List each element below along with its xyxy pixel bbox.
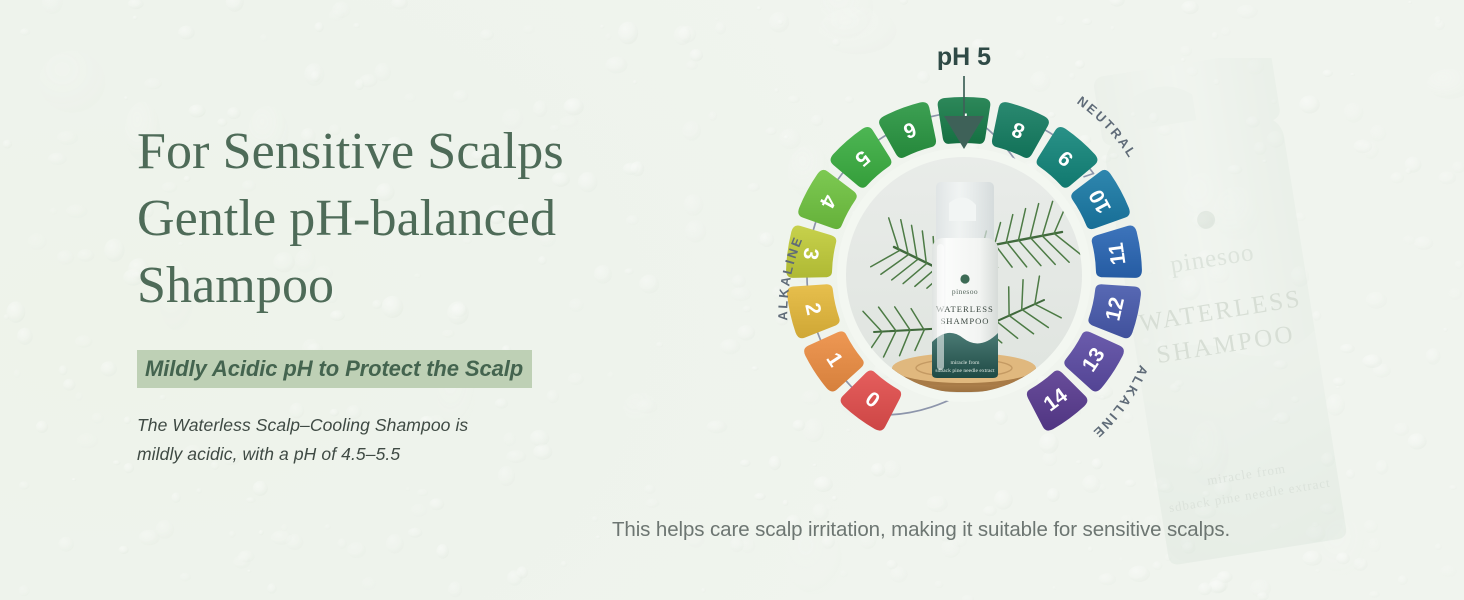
svg-text:WATERLESS: WATERLESS — [936, 304, 994, 314]
left-copy-block: For Sensitive Scalps Gentle pH-balanced … — [137, 118, 697, 468]
subtitle-wrapper: Mildly Acidic pH to Protect the Scalp — [137, 350, 697, 388]
body-copy: The Waterless Scalp–Cooling Shampoo is m… — [137, 411, 697, 468]
page-title: For Sensitive Scalps Gentle pH-balanced … — [137, 118, 697, 319]
ph-segment-label-11: 11 — [1105, 241, 1131, 266]
svg-text:pinesoo: pinesoo — [952, 287, 978, 296]
svg-text:SHAMPOO: SHAMPOO — [940, 316, 989, 326]
svg-text:sdback pine needle extract: sdback pine needle extract — [935, 368, 995, 374]
svg-text:miracle from: miracle from — [950, 359, 980, 366]
ph-wheel: 01234567891011121314 — [744, 32, 1184, 502]
banner-root: pinesoo WATERLESS SHAMPOO miracle from s… — [0, 0, 1464, 600]
headline-line-2: Gentle pH-balanced — [137, 185, 697, 252]
body-copy-line-2: mildly acidic, with a pH of 4.5–5.5 — [137, 440, 697, 468]
bottle-graphic: pinesoo WATERLESS SHAMPOO miracle from s… — [932, 182, 998, 378]
subtitle-highlight: Mildly Acidic pH to Protect the Scalp — [137, 350, 532, 388]
ph-pointer-label: pH 5 — [937, 43, 991, 71]
headline-line-1: For Sensitive Scalps — [137, 118, 697, 185]
footer-caption: This helps care scalp irritation, making… — [612, 518, 1372, 542]
body-copy-line-1: The Waterless Scalp–Cooling Shampoo is — [137, 411, 697, 439]
headline-line-3: Shampoo — [137, 252, 697, 319]
